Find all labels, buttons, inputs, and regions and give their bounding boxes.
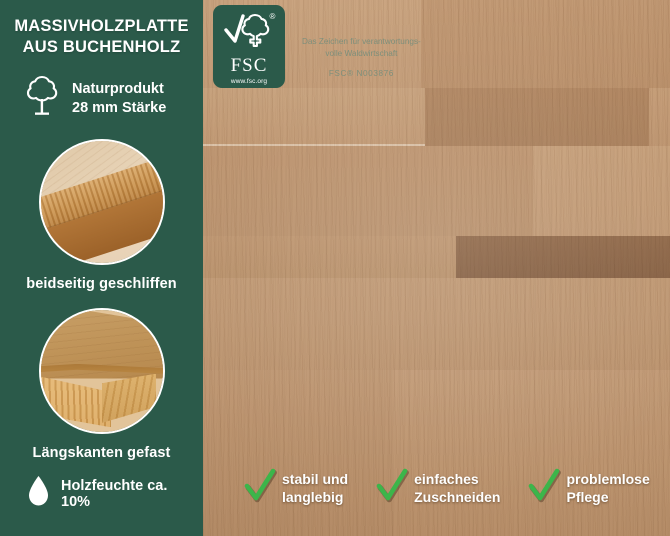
tree-icon [24, 74, 60, 123]
fsc-text-block: Das Zeichen für verantwortungs- volle Wa… [302, 36, 421, 78]
nature-feature-row: Naturprodukt 28 mm Stärke [24, 74, 193, 123]
wood-stave [203, 88, 425, 144]
feature-block-sanded: beidseitig geschliffen [10, 139, 193, 292]
fsc-claim: Das Zeichen für verantwortungs- volle Wa… [302, 36, 421, 60]
wood-stave [393, 370, 670, 536]
moisture-row: Holzfeuchte ca. 10% [26, 475, 193, 512]
check-icon [375, 468, 409, 509]
wood-stave [203, 370, 393, 536]
sidebar: MASSIVHOLZPLATTE AUS BUCHENHOLZ Naturpro… [0, 0, 203, 536]
water-drop-icon [26, 475, 51, 512]
feature-block-chamfered: Längskanten gefast [10, 308, 193, 461]
fsc-logo: ® FSC www.fsc.org [213, 5, 285, 88]
benefit-label: stabil und langlebig [282, 471, 348, 505]
benefit-item: problemlose Pflege [527, 468, 649, 509]
benefit-item: stabil und langlebig [243, 468, 348, 509]
benefit-label: problemlose Pflege [566, 471, 649, 505]
board-sanded-photo [39, 139, 165, 265]
wood-stave [425, 88, 649, 146]
fsc-url: www.fsc.org [231, 78, 267, 85]
feature-caption-chamfered: Längskanten gefast [10, 445, 193, 461]
wood-stave [203, 236, 456, 278]
wood-stave [533, 146, 670, 236]
benefits-row: stabil und langlebig einfaches Zuschneid… [243, 468, 650, 509]
check-icon [243, 468, 277, 509]
infographic-canvas: MASSIVHOLZPLATTE AUS BUCHENHOLZ Naturpro… [0, 0, 670, 536]
wood-stave-dark [456, 236, 670, 278]
check-icon [527, 468, 561, 509]
wood-stave [203, 278, 670, 370]
wood-stave [203, 146, 533, 236]
wood-stave [649, 88, 670, 146]
panel-edge-strip [203, 0, 212, 536]
benefit-label: einfaches Zuschneiden [414, 471, 500, 505]
board-chamfered-photo [39, 308, 165, 434]
fsc-name: FSC [231, 56, 268, 75]
fsc-certification: ® FSC www.fsc.org Das Zeichen für verant… [213, 5, 421, 88]
moisture-text: Holzfeuchte ca. 10% [61, 478, 193, 510]
nature-text: Naturprodukt 28 mm Stärke [72, 80, 166, 118]
fsc-tree-checkmark-icon: ® [222, 10, 276, 55]
page-title: MASSIVHOLZPLATTE AUS BUCHENHOLZ [10, 16, 193, 58]
wood-stave [421, 0, 670, 88]
fsc-license-code: FSC® N003876 [302, 69, 421, 78]
svg-text:®: ® [270, 12, 276, 21]
feature-caption-sanded: beidseitig geschliffen [10, 276, 193, 292]
benefit-item: einfaches Zuschneiden [375, 468, 500, 509]
